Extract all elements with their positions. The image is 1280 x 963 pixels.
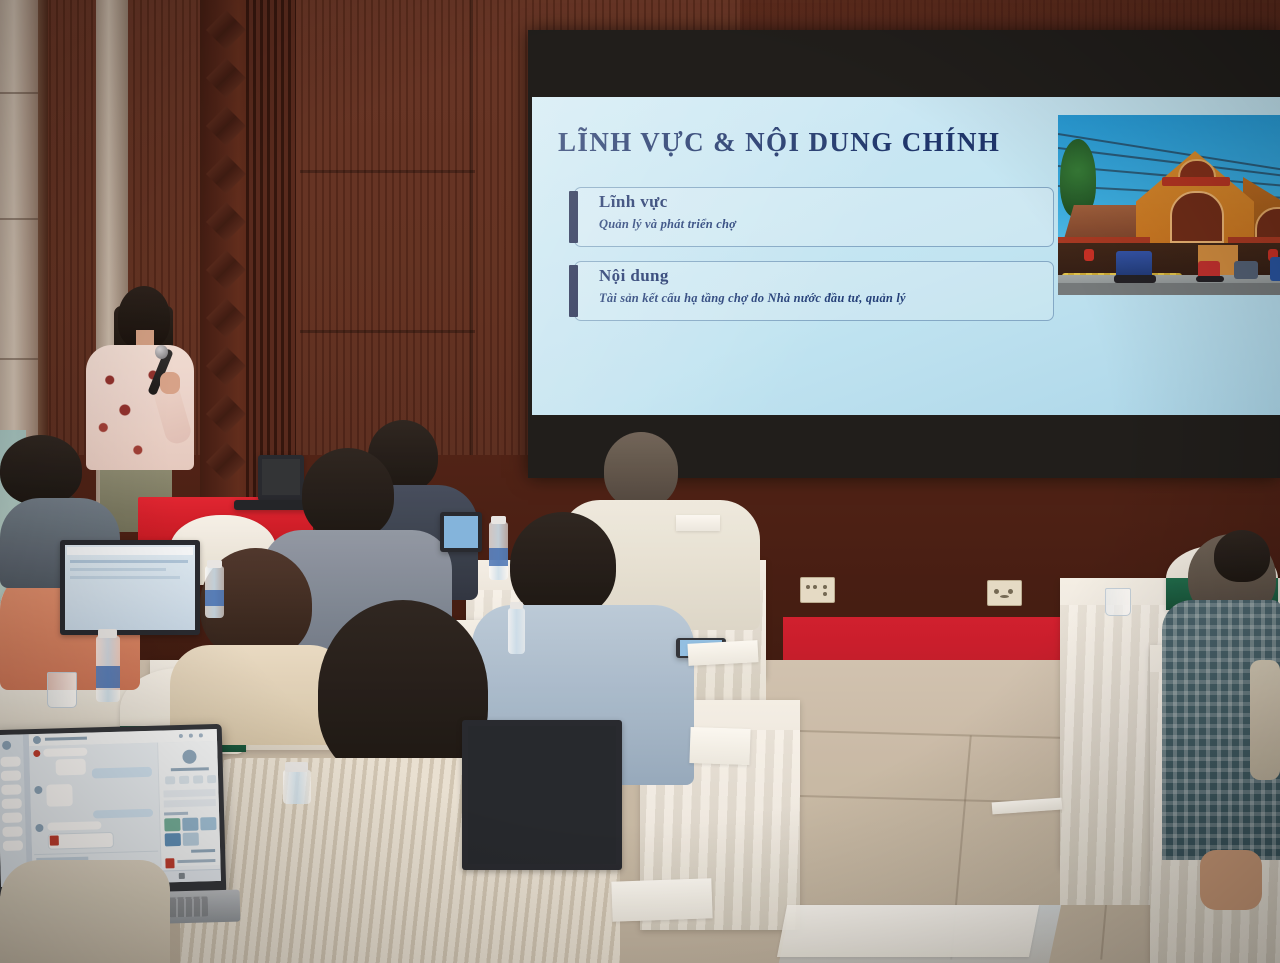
slide-box-heading: Nội dung: [599, 266, 669, 286]
paper-sheet-floor: [777, 905, 1039, 957]
chat-video-icon[interactable]: [189, 734, 193, 738]
message-thread[interactable]: [29, 743, 160, 871]
media-thumbnail[interactable]: [200, 817, 216, 830]
slide-accent-bar: [569, 191, 578, 243]
slide-title: LĨNH VỰC & NỘI DUNG CHÍNH: [558, 127, 1078, 158]
message-bubble-incoming: [56, 759, 86, 776]
message-avatar: [33, 750, 40, 757]
conversation-list-item[interactable]: [2, 826, 22, 837]
slide-box-linh-vuc: Lĩnh vực Quản lý và phát triển chợ: [574, 187, 1054, 247]
presenter-hand: [160, 372, 180, 394]
contact-action-icon[interactable]: [193, 775, 203, 783]
slide-accent-bar: [569, 265, 578, 317]
chat-info-icon[interactable]: [199, 733, 203, 737]
water-bottle: [283, 770, 311, 804]
photo-road: [1058, 283, 1280, 295]
wall-outlet[interactable]: [987, 580, 1022, 606]
water-bottle: [508, 608, 525, 654]
laptop-screen[interactable]: [444, 516, 478, 548]
conversation-list-item[interactable]: [3, 840, 23, 851]
chat-contact-avatar: [33, 736, 41, 744]
attendee-arm: [1200, 850, 1262, 910]
laptop-screen[interactable]: [65, 545, 195, 630]
paper-stack: [611, 878, 712, 921]
message-avatar: [34, 786, 42, 794]
contact-action-icon[interactable]: [165, 776, 175, 784]
bottle-cap: [285, 762, 308, 772]
conversation-list-item[interactable]: [2, 798, 22, 809]
chat-avatar: [2, 741, 11, 750]
laptop-content-line: [70, 560, 188, 563]
wall-seam: [300, 330, 475, 333]
conversation-list-item[interactable]: [1, 770, 21, 781]
bottle-cap: [491, 516, 506, 524]
attendee-shoulder: [0, 860, 170, 963]
attendee-head: [604, 432, 678, 508]
laptop-base: [234, 500, 312, 510]
photo-scene: LĨNH VỰC & NỘI DUNG CHÍNH Lĩnh vực Quản …: [0, 0, 1280, 963]
file-icon: [165, 858, 174, 868]
slide-box-noi-dung: Nội dung Tài sản kết cấu hạ tầng chợ do …: [574, 261, 1054, 321]
wall-outlet[interactable]: [800, 577, 835, 603]
conversation-list-item[interactable]: [1, 784, 21, 795]
contact-option-row[interactable]: [163, 789, 215, 797]
bottle-cap: [207, 560, 222, 568]
laptop-screen[interactable]: [262, 459, 300, 495]
attendee-head: [510, 512, 616, 618]
taskbar-clock[interactable]: [179, 873, 185, 879]
laptop-screen[interactable]: [468, 726, 616, 864]
slide-box-heading: Lĩnh vực: [599, 192, 668, 212]
led-screen[interactable]: LĨNH VỰC & NỘI DUNG CHÍNH Lĩnh vực Quản …: [532, 97, 1280, 415]
file-icon: [50, 835, 59, 845]
attendee-head: [302, 448, 394, 540]
carved-column-flutes: [246, 0, 296, 520]
chat-contact-name: [45, 737, 87, 741]
conversation-list-item[interactable]: [2, 812, 22, 823]
bottle-label: [205, 590, 224, 606]
pillar-seam: [0, 92, 40, 94]
contact-avatar: [182, 750, 196, 764]
message-avatar: [35, 824, 43, 832]
pillar-seam: [0, 218, 40, 220]
slide-box-subtext: Tài sản kết cấu hạ tầng chợ do Nhà nước …: [599, 291, 906, 306]
composer-divider: [34, 851, 158, 855]
bottle-cap: [98, 629, 117, 638]
laptop-content-line: [70, 576, 180, 579]
paper-stack: [687, 640, 758, 666]
photo-side-building: [1064, 205, 1146, 239]
wall-seam: [470, 0, 473, 520]
message-bubble-outgoing: [93, 809, 153, 819]
attendee-head: [1214, 530, 1270, 582]
message-bubble-incoming: [47, 821, 101, 831]
file-name: [177, 859, 215, 863]
media-thumbnail[interactable]: [164, 818, 180, 831]
drinking-glass: [1105, 588, 1131, 616]
photo-lantern: [1084, 249, 1094, 261]
media-thumbnail[interactable]: [183, 833, 199, 846]
photo-arched-door: [1170, 191, 1224, 243]
see-all-link[interactable]: [191, 849, 215, 853]
photo-sign-band: [1162, 177, 1230, 186]
wall-seam: [300, 170, 475, 173]
message-bubble-incoming: [43, 748, 87, 757]
message-bubble-outgoing: [92, 767, 152, 779]
contact-name: [171, 767, 209, 771]
attendee-body: [1250, 660, 1280, 780]
bottle-label: [96, 666, 120, 688]
paper-stack: [676, 515, 720, 531]
microphone-head: [155, 345, 168, 359]
drinking-glass: [47, 672, 77, 708]
paper-stack: [689, 727, 750, 765]
chat-call-icon[interactable]: [179, 734, 183, 738]
photo-motorbike: [1270, 257, 1280, 281]
media-thumbnail[interactable]: [165, 833, 181, 846]
contact-action-icon[interactable]: [207, 775, 216, 783]
slide-box-subtext: Quản lý và phát triển chợ: [599, 217, 736, 232]
pillar-seam: [0, 358, 40, 360]
laptop-content-line: [70, 568, 166, 571]
conversation-list-item[interactable]: [0, 756, 20, 767]
bottle-label: [489, 548, 508, 566]
contact-action-icon[interactable]: [179, 776, 189, 784]
message-bubble-incoming: [46, 784, 73, 807]
slide-market-photo: [1058, 115, 1280, 295]
contact-option-row[interactable]: [164, 799, 216, 807]
media-section-label: [164, 812, 188, 816]
attendee-head: [0, 435, 82, 505]
photo-car: [1234, 261, 1258, 279]
photo-motorbike-wheels: [1196, 276, 1224, 282]
media-thumbnail[interactable]: [182, 818, 198, 831]
bottle-cap: [510, 602, 523, 609]
photo-motorbike-wheels: [1114, 275, 1156, 283]
laptop-titlebar: [67, 547, 193, 555]
contact-info-panel[interactable]: [157, 741, 221, 867]
